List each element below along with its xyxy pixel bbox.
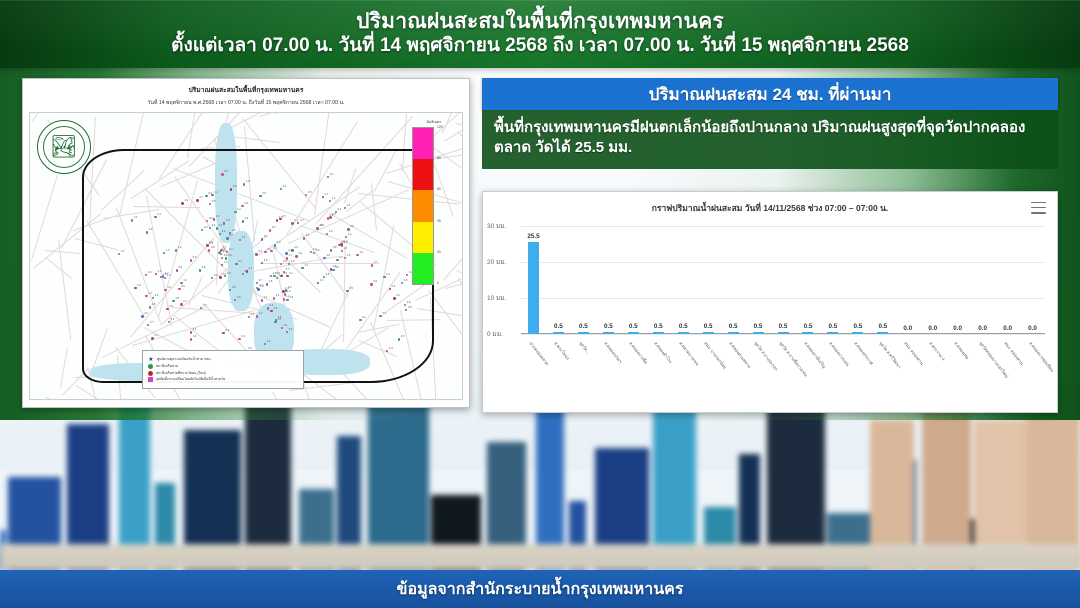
chart-bar-value: 0.5 <box>870 323 895 330</box>
rain-gauge-value: 3.2 <box>294 246 298 249</box>
rain-gauge-value: 0.0 <box>214 274 218 277</box>
rain-gauge-value: 3.2 <box>291 260 295 263</box>
rainfall-chart-card[interactable]: กราฟปริมาณน้ำฝนสะสม วันที่ 14/11/2568 ช่… <box>482 191 1058 413</box>
bangkok-boundary <box>82 149 434 383</box>
x-axis-label-slot: ส.พระโขนง <box>546 338 571 424</box>
rain-gauge-point <box>383 276 385 278</box>
rain-gauge-value: 1.7 <box>289 254 293 257</box>
chart-bar-value: 0.5 <box>820 323 845 330</box>
burger-line-2 <box>1031 207 1046 209</box>
rain-gauge-value: 0.2 <box>362 316 366 319</box>
x-axis-label: ส.คลองบางขุนเทียน <box>1027 340 1055 373</box>
chart-bar[interactable] <box>678 332 689 334</box>
rain-gauge-point <box>209 227 211 229</box>
chart-bar-column[interactable]: 0.5 <box>621 226 646 334</box>
map-road <box>458 278 463 400</box>
rain-gauge-value: 2.7 <box>199 196 203 199</box>
rain-gauge-point <box>216 227 218 229</box>
ground-strip <box>0 544 1080 570</box>
rain-gauge-value: 1.6 <box>347 254 351 257</box>
rain-gauge-point <box>219 276 221 278</box>
map-title: ปริมาณฝนสะสมในพื้นที่กรุงเทพมหานคร <box>29 85 463 95</box>
rain-gauge-value: 0.9 <box>350 225 354 228</box>
chart-bar[interactable] <box>553 332 564 334</box>
rain-gauge-point <box>295 255 297 257</box>
square-icon <box>148 377 153 382</box>
chart-bar-value: 0.5 <box>696 323 721 330</box>
x-axis-label: ส.พระราม 4 <box>927 340 946 362</box>
rain-gauge-value: 0.8 <box>202 266 206 269</box>
map-road <box>457 131 463 191</box>
rain-gauge-value: 0.7 <box>374 261 378 264</box>
rain-gauge-point <box>219 233 221 235</box>
rain-gauge-point <box>164 289 166 291</box>
rain-gauge-value: 2.4 <box>148 271 152 274</box>
x-axis-label-slot: สนง. คลองสาน <box>895 338 920 424</box>
footer-label: ข้อมูลจากสำนักระบายน้ำกรุงเทพมหานคร <box>397 577 684 602</box>
chart-bar[interactable] <box>877 332 888 334</box>
rain-gauge-point <box>340 243 342 245</box>
rain-gauge-value: 1.1 <box>183 300 187 303</box>
chart-bar-column[interactable]: 0.0 <box>895 226 920 334</box>
x-axis-label: ส.พระโขนง <box>553 340 572 361</box>
rain-gauge-value: 1.0 <box>267 340 271 343</box>
scale-segment-3 <box>413 222 433 253</box>
chart-bar[interactable] <box>703 332 714 334</box>
x-axis-label-slot: จุดวัด... <box>571 338 596 424</box>
rain-gauge-value: 2.5 <box>169 305 173 308</box>
chart-bar-column[interactable]: 0.5 <box>596 226 621 334</box>
rain-gauge-point <box>131 219 133 221</box>
rain-gauge-point <box>226 237 228 239</box>
rain-gauge-value: 1.1 <box>332 197 336 200</box>
rain-gauge-value: 3.9 <box>264 259 268 262</box>
rain-gauge-point <box>220 249 222 251</box>
x-axis-label-slot: จุดวัด ส.ทวีวัฒนา <box>870 338 895 424</box>
scale-segment-1 <box>413 159 433 190</box>
x-axis-label-slot: จุดวัดคลองบางกอกใหญ่ <box>970 338 995 424</box>
rain-gauge-value: 2.3 <box>137 284 141 287</box>
x-axis-label-slot: ส.คลองเปรมฯ <box>596 338 621 424</box>
rain-gauge-point <box>206 245 208 247</box>
rain-gauge-point <box>398 338 400 340</box>
rain-gauge-value: 2.4 <box>178 246 182 249</box>
rain-gauge-point <box>393 297 395 299</box>
burger-line-1 <box>1031 202 1046 204</box>
rain-gauge-value: 3.6 <box>171 318 175 321</box>
rain-gauge-value: 2.5 <box>224 170 228 173</box>
y-axis-tick-label: 10 มม. <box>487 293 506 303</box>
rain-gauge-value: 0.1 <box>396 294 400 297</box>
rain-gauge-point <box>370 283 372 285</box>
rain-gauge-value: 0.1 <box>330 173 334 176</box>
rain-gauge-value: 1.3 <box>149 228 153 231</box>
rain-gauge-value: 3.7 <box>300 219 304 222</box>
rain-gauge-point <box>301 267 303 269</box>
rain-gauge-value: 2.1 <box>249 267 253 270</box>
chart-bar-column[interactable]: 0.5 <box>795 226 820 334</box>
rain-gauge-point <box>172 300 174 302</box>
rain-gauge-value: 1.8 <box>260 285 264 288</box>
rain-gauge-value: 2.8 <box>326 273 330 276</box>
x-axis-label-slot: ปากคลองตลาด <box>521 338 546 424</box>
rain-gauge-point <box>266 283 268 285</box>
rain-gauge-value: 3.8 <box>404 279 408 282</box>
x-axis-label-slot: ส.ตลาดบางเขน <box>671 338 696 424</box>
rain-gauge-point <box>281 327 283 329</box>
rain-gauge-value: 1.7 <box>154 334 158 337</box>
rain-gauge-point <box>248 316 250 318</box>
chart-x-axis-labels: ปากคลองตลาดส.พระโขนงจุดวัด...ส.คลองเปรมฯ… <box>521 338 1045 424</box>
map-road <box>30 112 31 113</box>
section-header-label: ปริมาณฝนสะสม 24 ชม. ที่ผ่านมา <box>649 81 892 108</box>
rain-gauge-value: 1.4 <box>276 294 280 297</box>
rain-gauge-value: 1.0 <box>347 204 351 207</box>
rain-gauge-value: 2.6 <box>401 335 405 338</box>
rain-gauge-value: 2.5 <box>289 328 293 331</box>
chart-bar-column[interactable]: 0.5 <box>721 226 746 334</box>
rain-gauge-value: 3.4 <box>193 328 197 331</box>
rain-gauge-value: 0.8 <box>333 246 337 249</box>
hamburger-menu-icon[interactable] <box>1031 202 1046 214</box>
chart-bar-column[interactable]: 0.5 <box>646 226 671 334</box>
chart-bar-column[interactable]: 0.0 <box>970 226 995 334</box>
rain-gauge-value: 3.4 <box>288 286 292 289</box>
rain-gauge-point <box>190 331 192 333</box>
x-axis-label-slot: ส.คลองบางบอน <box>820 338 845 424</box>
chart-bar[interactable] <box>528 242 539 334</box>
rain-gauge-value: 3.0 <box>155 294 159 297</box>
rain-gauge-value: 3.5 <box>408 306 412 309</box>
rain-gauge-value: 2.6 <box>245 217 249 220</box>
rain-gauge-value: 1.8 <box>152 303 156 306</box>
rain-gauge-value: 2.3 <box>313 248 317 251</box>
chart-bar-value: 0.5 <box>621 323 646 330</box>
chart-bar-value: 0.0 <box>945 325 970 332</box>
circle-icon <box>148 371 153 376</box>
rain-gauge-value: 1.5 <box>273 272 277 275</box>
rain-gauge-value: 0.7 <box>259 279 263 282</box>
rain-gauge-value: 3.8 <box>232 286 236 289</box>
rain-gauge-value: 0.1 <box>241 335 245 338</box>
rain-gauge-value: 2.7 <box>282 215 286 218</box>
x-axis-label-slot: สนง. บางกอกน้อย <box>696 338 721 424</box>
rain-gauge-point <box>264 343 266 345</box>
rain-gauge-value: 0.9 <box>179 266 183 269</box>
chart-bar-value: 0.0 <box>920 325 945 332</box>
rain-gauge-point <box>285 252 287 254</box>
rain-gauge-value: 3.3 <box>216 215 220 218</box>
rain-gauge-value: 2.8 <box>227 272 231 275</box>
map-road <box>58 240 71 340</box>
rain-gauge-value: 2.2 <box>339 256 343 259</box>
x-axis-label: จุดวัด... <box>578 340 592 355</box>
chart-title: กราฟปริมาณน้ำฝนสะสม วันที่ 14/11/2568 ช่… <box>483 192 1057 215</box>
rain-gauge-value: 2.8 <box>244 202 248 205</box>
map-subtitle: วันที่ 14 พฤศจิกายน พ.ศ.2568 เวลา 07.00 … <box>29 99 463 107</box>
rain-gauge-value: 0.6 <box>193 256 197 259</box>
x-axis-label-slot: ส.คลองบางขุนเทียน <box>1020 338 1045 424</box>
x-axis-label-slot: ส.คลองบางซื่อ <box>621 338 646 424</box>
legend-item: จุดติดตั้งระบบเตือนโดยอัตโนมัติเมื่อมีน้… <box>148 377 298 382</box>
rain-gauge-value: 3.9 <box>373 280 377 283</box>
rain-gauge-value: 3.0 <box>222 230 226 233</box>
chart-bar[interactable] <box>827 332 838 334</box>
chart-bar-value: 0.0 <box>1020 325 1045 332</box>
legend-label: จุดติดตั้งระบบเตือนโดยอัตโนมัติเมื่อมีน้… <box>156 377 225 382</box>
chart-bar-column[interactable]: 0.5 <box>820 226 845 334</box>
chart-bar[interactable] <box>753 332 764 334</box>
chart-bar-column[interactable]: 0.0 <box>945 226 970 334</box>
chart-bar[interactable] <box>653 332 664 334</box>
rain-gauge-value: 2.9 <box>407 301 411 304</box>
rain-gauge-value: 0.4 <box>251 313 255 316</box>
rain-gauge-value: 3.7 <box>223 246 227 249</box>
rain-gauge-value: 0.0 <box>228 254 232 257</box>
y-axis-tick-label: 20 มม. <box>487 257 506 267</box>
page-title: ปริมาณฝนสะสมในพื้นที่กรุงเทพมหานคร <box>356 10 724 34</box>
scale-segment-0 <box>413 128 433 159</box>
rain-gauge-value: 2.8 <box>175 297 179 300</box>
rain-gauge-value: 2.6 <box>306 234 310 237</box>
chart-bar-column[interactable]: 0.5 <box>571 226 596 334</box>
rain-gauge-point <box>164 277 166 279</box>
scale-tick: 120 <box>437 125 443 129</box>
rain-gauge-value: 2.7 <box>229 248 233 251</box>
scale-tick: 35 <box>437 219 441 223</box>
rain-gauge-value: 1.4 <box>304 264 308 267</box>
rain-gauge-point <box>329 216 331 218</box>
map-road <box>259 112 318 117</box>
rain-gauge-value: 1.3 <box>273 307 277 310</box>
rain-gauge-value: 3.3 <box>389 347 393 350</box>
chart-bar-column[interactable]: 0.0 <box>995 226 1020 334</box>
rain-gauge-point <box>141 315 143 317</box>
chart-bar-column[interactable]: 0.5 <box>696 226 721 334</box>
rain-gauge-value: 3.0 <box>277 241 281 244</box>
rain-gauge-value: 1.3 <box>344 247 348 250</box>
rain-gauge-value: 3.5 <box>308 191 312 194</box>
rain-gauge-value: 1.6 <box>279 274 283 277</box>
rain-gauge-value: 1.5 <box>158 270 162 273</box>
rain-gauge-value: 3.9 <box>181 285 185 288</box>
chart-bar[interactable] <box>628 332 639 334</box>
chart-bar-value: 0.5 <box>845 323 870 330</box>
rain-gauge-value: 3.1 <box>224 261 228 264</box>
rain-gauge-value: 2.2 <box>287 290 291 293</box>
rain-gauge-point <box>199 269 201 271</box>
bma-seal-icon: 🏞 <box>37 120 91 174</box>
chart-bars: 25.50.50.50.50.50.50.50.50.50.50.50.50.5… <box>521 226 1045 334</box>
rain-gauge-value: 1.3 <box>348 233 352 236</box>
rain-gauge-value: 3.5 <box>212 200 216 203</box>
rain-gauge-point <box>256 315 258 317</box>
rain-gauge-point <box>332 269 334 271</box>
rain-gauge-value: 2.3 <box>392 285 396 288</box>
legend-item: สถานีเครือข่าย <box>148 364 298 369</box>
scale-tick: 0 <box>437 281 439 285</box>
rain-gauge-value: 3.8 <box>320 224 324 227</box>
rain-gauge-value: 2.1 <box>294 219 298 222</box>
rain-gauge-point <box>356 254 358 256</box>
rain-gauge-point <box>257 288 259 290</box>
chart-bar[interactable] <box>728 332 739 334</box>
rain-gauge-point <box>347 228 349 230</box>
rain-gauge-value: 1.5 <box>269 280 273 283</box>
chart-bar-column[interactable]: 0.5 <box>546 226 571 334</box>
legend-label: สถานีเครือข่ายที่ตรวจวัดฝน (ใหม่) <box>156 371 206 376</box>
rain-gauge-point <box>190 259 192 261</box>
seal-emblem: 🏞 <box>43 126 85 168</box>
x-axis-label-slot: จุดวัด ส.บางปะกอก <box>746 338 771 424</box>
rain-gauge-value: 1.9 <box>184 199 188 202</box>
chart-bar[interactable] <box>778 332 789 334</box>
chart-bar-column[interactable]: 0.5 <box>845 226 870 334</box>
rain-gauge-value: 0.4 <box>386 273 390 276</box>
scale-segment-2 <box>413 190 433 221</box>
rain-gauge-value: 3.1 <box>183 279 187 282</box>
rain-gauge-point <box>269 229 271 231</box>
rain-gauge-point <box>329 200 331 202</box>
rain-gauge-value: 3.5 <box>283 272 287 275</box>
map-road <box>32 112 116 122</box>
scale-tick: 80 <box>437 156 441 160</box>
legend-item: ★ศูนย์ควบคุมระบบป้องกันน้ำท่วม กทม. <box>148 357 298 363</box>
chart-bar[interactable] <box>852 332 863 334</box>
chart-bar-value: 0.0 <box>970 325 995 332</box>
chart-bar[interactable] <box>802 332 813 334</box>
rain-gauge-value: 1.1 <box>214 191 218 194</box>
rain-gauge-point <box>264 251 266 253</box>
right-column: ปริมาณฝนสะสม 24 ชม. ที่ผ่านมา พื้นที่กรุ… <box>482 78 1058 413</box>
rain-gauge-value: 1.4 <box>329 230 333 233</box>
chart-bar[interactable] <box>578 332 589 334</box>
chart-plot-area: 25.50.50.50.50.50.50.50.50.50.50.50.50.5… <box>483 218 1057 412</box>
x-axis-label-slot: ส.คลองสวนหลวง <box>721 338 746 424</box>
rain-gauge-value: 0.6 <box>229 234 233 237</box>
summary-text: พื้นที่กรุงเทพมหานครมีฝนตกเล็กน้อยถึงปาน… <box>494 118 1046 159</box>
rain-gauge-point <box>280 188 282 190</box>
rain-gauge-point <box>303 237 305 239</box>
rain-gauge-value: 0.5 <box>349 287 353 290</box>
rain-gauge-value: 3.4 <box>223 250 227 253</box>
rain-gauge-value: 0.2 <box>208 192 212 195</box>
chart-bar-value: 0.5 <box>571 323 596 330</box>
rain-gauge-value: 1.4 <box>167 286 171 289</box>
chart-bar-column[interactable]: 0.5 <box>870 226 895 334</box>
scale-bar-wrap: 120806035200 <box>412 127 456 285</box>
rain-gauge-point <box>273 297 275 299</box>
rain-gauge-point <box>330 249 332 251</box>
rain-gauge-point <box>255 253 257 255</box>
chart-bar-column[interactable]: 25.5 <box>521 226 546 334</box>
rain-gauge-value: 0.3 <box>226 219 230 222</box>
chart-bar-column[interactable]: 0.5 <box>771 226 796 334</box>
rain-gauge-value: 0.7 <box>121 250 125 253</box>
map-road <box>60 348 68 388</box>
chart-bar-column[interactable]: 0.0 <box>1020 226 1045 334</box>
rainfall-map-panel[interactable]: ปริมาณฝนสะสมในพื้นที่กรุงเทพมหานคร วันที… <box>22 78 470 408</box>
rain-gauge-point <box>359 319 361 321</box>
rain-gauge-value: 3.7 <box>286 268 290 271</box>
rain-gauge-point <box>175 249 177 251</box>
chart-bar-value: 0.5 <box>646 323 671 330</box>
rain-gauge-value: 2.9 <box>298 252 302 255</box>
rain-gauge-point <box>317 227 319 229</box>
x-axis-label-slot: สนง. คลองสวน <box>995 338 1020 424</box>
rain-gauge-value: 2.9 <box>232 229 236 232</box>
y-axis-tick-label: 30 มม. <box>487 221 506 231</box>
rain-gauge-value: 0.5 <box>332 213 336 216</box>
map-road <box>31 175 58 260</box>
rain-gauge-point <box>181 202 183 204</box>
x-axis-label-slot: ส.พระราม 4 <box>920 338 945 424</box>
rain-gauge-value: 3.1 <box>289 272 293 275</box>
page-header: ปริมาณฝนสะสมในพื้นที่กรุงเทพมหานคร ตั้งแ… <box>0 0 1080 68</box>
star-icon: ★ <box>148 357 154 363</box>
chart-bar-value: 0.5 <box>771 323 796 330</box>
x-axis-label-slot: จุดวัด ส.บางซื่อบางเขน <box>771 338 796 424</box>
rain-gauge-value: 2.3 <box>258 250 262 253</box>
rain-gauge-point <box>291 222 293 224</box>
rain-gauge-value: 3.6 <box>212 224 216 227</box>
scale-caption: มิลลิเมตร <box>412 119 456 125</box>
x-axis-label-slot: ส.คลองประเวศ <box>845 338 870 424</box>
rain-gauge-value: 1.9 <box>284 324 288 327</box>
map-header: ปริมาณฝนสะสมในพื้นที่กรุงเทพมหานคร วันที… <box>29 85 463 107</box>
rain-gauge-value: 1.0 <box>359 251 363 254</box>
rain-gauge-value: 0.6 <box>237 296 241 299</box>
rain-gauge-value: 0.4 <box>338 208 342 211</box>
rain-gauge-value: 0.7 <box>343 240 347 243</box>
rain-gauge-value: 2.0 <box>273 247 277 250</box>
rain-gauge-point <box>149 306 151 308</box>
chart-bar-column[interactable]: 0.5 <box>746 226 771 334</box>
legend-item: สถานีเครือข่ายที่ตรวจวัดฝน (ใหม่) <box>148 371 298 376</box>
chart-bar-value: 0.5 <box>795 323 820 330</box>
rain-gauge-value: 2.0 <box>277 318 281 321</box>
rain-gauge-point <box>180 303 182 305</box>
rain-gauge-value: 1.7 <box>325 193 329 196</box>
rain-gauge-value: 0.9 <box>233 185 237 188</box>
rain-gauge-value: 2.0 <box>144 312 148 315</box>
rain-gauge-value: 0.8 <box>335 266 339 269</box>
rain-gauge-point <box>235 263 237 265</box>
map-road <box>272 392 334 400</box>
rain-gauge-value: 1.1 <box>320 279 324 282</box>
scale-color-bar <box>412 127 434 285</box>
rain-gauge-value: 0.4 <box>264 296 268 299</box>
summary-box: พื้นที่กรุงเทพมหานครมีฝนตกเล็กน้อยถึงปาน… <box>482 110 1058 169</box>
rain-gauge-value: 3.4 <box>283 185 287 188</box>
chart-bar[interactable] <box>603 332 614 334</box>
rain-gauge-point <box>178 288 180 290</box>
scale-tick: 60 <box>437 187 441 191</box>
rain-gauge-value: 1.4 <box>219 224 223 227</box>
rain-gauge-value: 2.6 <box>262 192 266 195</box>
chart-bar-column[interactable]: 0.0 <box>920 226 945 334</box>
rain-gauge-value: 3.3 <box>272 226 276 229</box>
rain-gauge-point <box>151 337 153 339</box>
rain-gauge-point <box>259 195 261 197</box>
y-axis-tick-label: 0 มม. <box>487 329 503 339</box>
rain-gauge-value: 1.5 <box>242 236 246 239</box>
rain-gauge-point <box>242 273 244 275</box>
chart-bar-value: 0.5 <box>546 323 571 330</box>
chart-bar-column[interactable]: 0.5 <box>671 226 696 334</box>
rain-gauge-value: 2.7 <box>150 321 154 324</box>
map-canvas[interactable]: 0.00.71.42.12.83.50.20.91.62.33.03.70.41… <box>29 112 463 400</box>
